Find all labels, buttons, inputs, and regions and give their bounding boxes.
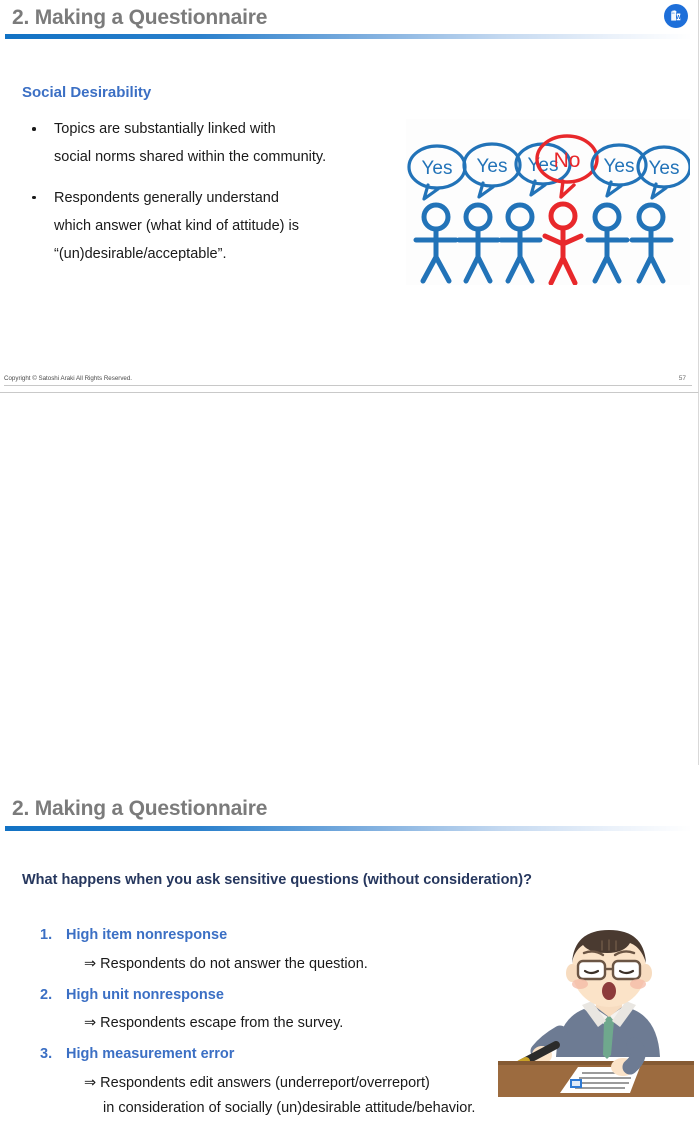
item-detail: ⇒ Respondents escape from the survey. [22, 1011, 542, 1036]
svg-text:No: No [554, 149, 581, 172]
item-detail: ⇒ Respondents do not answer the question… [22, 952, 542, 977]
troubled-businessman-illustration [498, 921, 694, 1097]
list-item: 3. High measurement error ⇒ Respondents … [22, 1044, 542, 1120]
item-heading-text: High item nonresponse [66, 927, 227, 943]
page-title: 2. Making a Questionnaire [12, 6, 267, 30]
item-number: 3. [40, 1044, 52, 1065]
title-divider [5, 34, 692, 39]
bullet-line: “(un)desirable/acceptable”. [54, 241, 402, 269]
footer-page-number: 57 [679, 375, 686, 382]
item-detail-continuation: in consideration of socially (un)desirab… [84, 1096, 542, 1121]
title-divider [5, 826, 692, 831]
section-heading: Social Desirability [22, 84, 151, 101]
footer-copyright: Copyright © Satoshi Araki All Rights Res… [4, 375, 132, 382]
consequences-list: 1. High item nonresponse ⇒ Respondents d… [22, 925, 542, 1128]
svg-text:Yes: Yes [477, 156, 508, 177]
slide-deck: 2. Making a Questionnaire W Social Desir… [0, 0, 699, 765]
slide-sensitive-questions: 2. Making a Questionnaire What happens w… [0, 393, 699, 765]
word-export-icon[interactable]: W [664, 4, 688, 28]
item-detail-line: ⇒ Respondents edit answers (underreport/… [84, 1075, 430, 1091]
conformity-yes-no-illustration: Yes Yes Yes [406, 119, 690, 285]
list-item: Respondents generally understand which a… [22, 185, 402, 269]
item-number: 2. [40, 985, 52, 1006]
list-item: 2. High unit nonresponse ⇒ Respondents e… [22, 985, 542, 1037]
item-heading: 1. High item nonresponse [22, 925, 542, 946]
lead-question: What happens when you ask sensitive ques… [22, 872, 532, 888]
item-heading: 3. High measurement error [22, 1044, 542, 1065]
bullet-line: social norms shared within the community… [54, 144, 402, 172]
svg-text:Yes: Yes [649, 158, 680, 179]
list-item: 1. High item nonresponse ⇒ Respondents d… [22, 925, 542, 977]
footer-divider [4, 385, 692, 386]
bullet-dot-icon [32, 127, 36, 131]
page-title: 2. Making a Questionnaire [12, 797, 267, 821]
svg-text:Yes: Yes [422, 158, 453, 179]
list-item: Topics are substantially linked with soc… [22, 116, 402, 172]
bullet-line: which answer (what kind of attitude) is [54, 213, 402, 241]
item-heading: 2. High unit nonresponse [22, 985, 542, 1006]
bullet-line: Topics are substantially linked with [54, 116, 402, 144]
svg-text:W: W [676, 15, 682, 21]
item-heading-text: High unit nonresponse [66, 987, 224, 1003]
svg-text:Yes: Yes [604, 156, 635, 177]
item-number: 1. [40, 925, 52, 946]
bullet-dot-icon [32, 196, 36, 200]
item-detail: ⇒ Respondents edit answers (underreport/… [22, 1071, 542, 1121]
bullet-line: Respondents generally understand [54, 185, 402, 213]
slide-social-desirability: 2. Making a Questionnaire W Social Desir… [0, 0, 699, 393]
item-heading-text: High measurement error [66, 1046, 234, 1062]
bullet-list: Topics are substantially linked with soc… [22, 116, 402, 282]
